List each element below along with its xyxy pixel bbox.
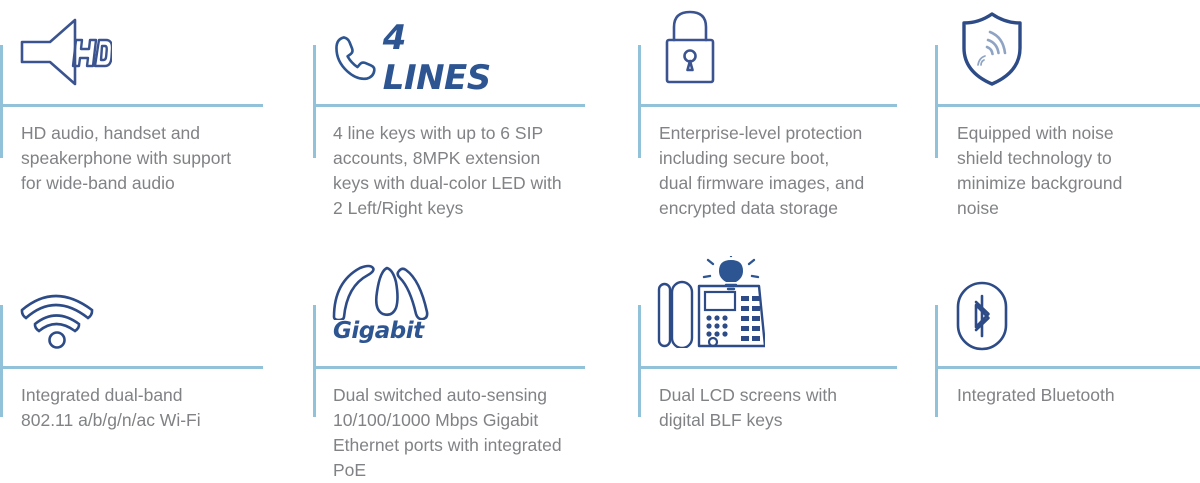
desk-phone-idea-icon xyxy=(655,256,765,348)
rule-horizontal xyxy=(935,366,1200,369)
feature-description: Equipped with noise shield technology to… xyxy=(957,121,1192,221)
rule-vertical xyxy=(638,305,641,417)
padlock-icon xyxy=(659,6,721,86)
feature-description: Enterprise-level protection including se… xyxy=(659,121,919,221)
rule-vertical xyxy=(935,305,938,417)
rule-vertical xyxy=(313,45,316,158)
feature-description: Dual switched auto-sensing 10/100/1000 M… xyxy=(333,383,608,483)
rule-vertical xyxy=(935,45,938,158)
feature-badge: 4 LINES xyxy=(383,18,500,98)
rule-horizontal xyxy=(638,366,897,369)
feature-description: Integrated Bluetooth xyxy=(957,383,1192,408)
rule-horizontal xyxy=(935,104,1200,107)
phone-handset-icon: 4 LINES xyxy=(334,18,500,98)
hd-speaker-icon xyxy=(16,16,112,88)
feature-description: HD audio, handset and speakerphone with … xyxy=(21,121,271,196)
feature-description: 4 line keys with up to 6 SIP accounts, 8… xyxy=(333,121,608,221)
rule-horizontal xyxy=(638,104,897,107)
rule-horizontal xyxy=(313,104,585,107)
rule-vertical xyxy=(0,45,3,158)
rule-horizontal xyxy=(0,366,263,369)
rule-horizontal xyxy=(0,104,263,107)
feature-description: Integrated dual-band 802.11 a/b/g/n/ac W… xyxy=(21,383,281,433)
gigabit-ports-icon xyxy=(330,262,438,320)
rule-vertical xyxy=(638,45,641,158)
feature-badge: Gigabit xyxy=(333,318,424,344)
feature-description: Dual LCD screens with digital BLF keys xyxy=(659,383,919,433)
feature-grid: HD audio, handset and speakerphone with … xyxy=(0,0,1200,469)
bluetooth-icon xyxy=(955,280,1009,352)
shield-noise-icon xyxy=(957,10,1027,88)
wifi-icon xyxy=(18,288,96,350)
rule-vertical xyxy=(0,305,3,417)
rule-vertical xyxy=(313,305,316,417)
rule-horizontal xyxy=(313,366,585,369)
